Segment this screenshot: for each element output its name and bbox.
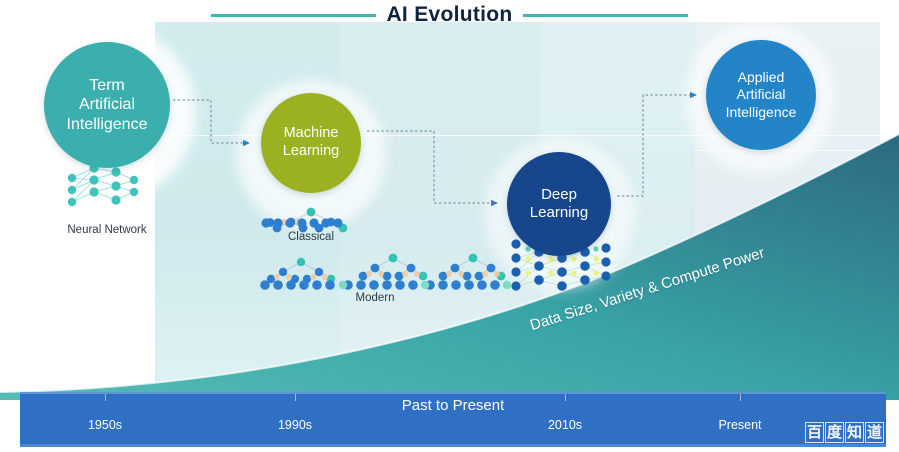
timeline-tick [295, 394, 296, 401]
node-applied-ai[interactable]: AppliedArtificialIntelligence [706, 40, 816, 150]
node-term-ai-label: TermArtificialIntelligence [61, 76, 154, 135]
timeline-bar: Past to Present 1950s1990s2010sPresent [20, 392, 886, 447]
page-title: AI Evolution [0, 0, 899, 30]
timeline-tick [740, 394, 741, 401]
node-deep-learning[interactable]: DeepLearning [507, 152, 611, 256]
node-machine-learning-label: MachineLearning [277, 125, 345, 160]
title-text: AI Evolution [386, 3, 512, 27]
watermark-char: 知 [845, 422, 864, 443]
node-machine-learning[interactable]: MachineLearning [261, 93, 361, 193]
timeline-tick [565, 394, 566, 401]
timeline-tick [105, 394, 106, 401]
watermark: 百度知道 [805, 422, 884, 443]
node-deep-learning-label: DeepLearning [524, 186, 594, 223]
watermark-char: 道 [865, 422, 884, 443]
watermark-char: 度 [825, 422, 844, 443]
infographic-canvas: Data Size, Variety & Compute Power [0, 0, 899, 452]
timeline-label-1950s: 1950s [55, 418, 155, 432]
timeline-label-1990s: 1990s [245, 418, 345, 432]
caption-neural-network: Neural Network [47, 224, 167, 236]
title-rule-right [523, 14, 688, 17]
caption-classical: Classical [261, 231, 361, 243]
caption-modern: Modern [320, 292, 430, 304]
title-rule-left [211, 14, 376, 17]
timeline-label-present: Present [690, 418, 790, 432]
watermark-char: 百 [805, 422, 824, 443]
node-term-ai[interactable]: TermArtificialIntelligence [44, 42, 170, 168]
node-applied-ai-label: AppliedArtificialIntelligence [720, 69, 803, 120]
timeline-title: Past to Present [20, 397, 886, 414]
timeline-label-2010s: 2010s [515, 418, 615, 432]
